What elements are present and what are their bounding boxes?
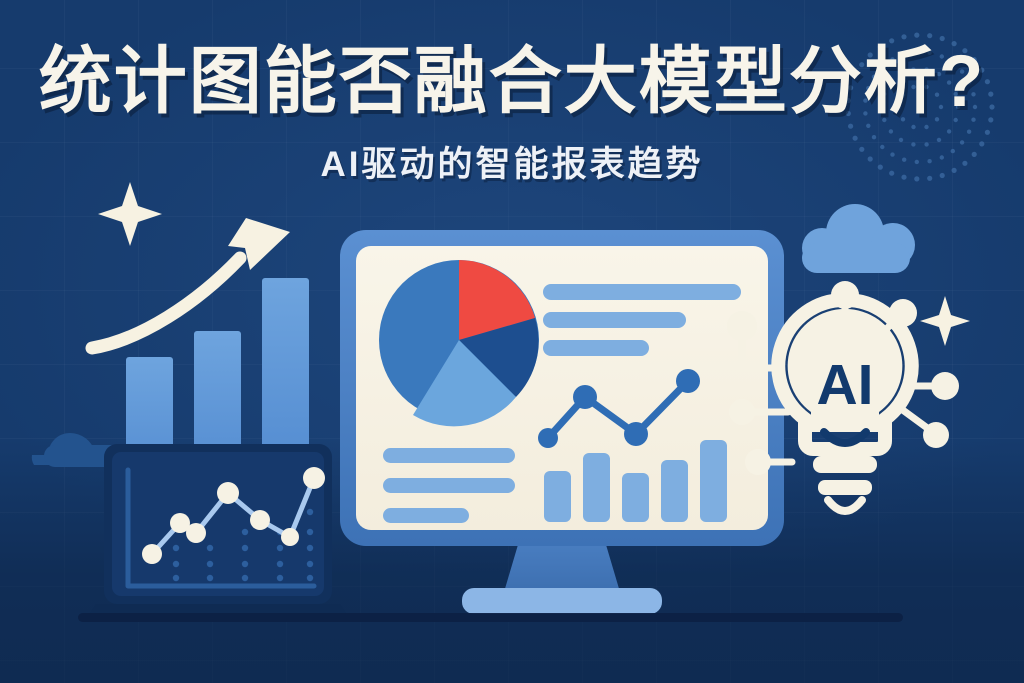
- ground-shadow: [78, 613, 903, 622]
- bulb-base-2: [818, 480, 872, 495]
- text-row: [383, 448, 515, 463]
- sparkle-left-icon: [98, 182, 162, 246]
- text-row: [383, 478, 515, 493]
- text-row: [543, 340, 649, 356]
- bar: [622, 473, 649, 522]
- bulb-base-1: [813, 456, 877, 473]
- infographic-canvas: 统计图能否融合大模型分析? AI驱动的智能报表趋势: [0, 0, 1024, 683]
- rising-arrow-icon: [92, 218, 290, 348]
- laptop-device: [88, 444, 348, 616]
- bar: [700, 440, 727, 522]
- page-title: 统计图能否融合大模型分析?: [0, 44, 1024, 120]
- text-row: [383, 508, 469, 523]
- ai-label: AI: [817, 353, 874, 417]
- page-subtitle: AI驱动的智能报表趋势: [0, 136, 1024, 187]
- cloud-right-icon: [802, 204, 915, 273]
- text-row: [543, 284, 741, 300]
- title-block: 统计图能否融合大模型分析? AI驱动的智能报表趋势: [0, 44, 1024, 187]
- text-row: [543, 312, 686, 328]
- sparkle-right-icon: [920, 296, 970, 346]
- bar: [661, 460, 688, 522]
- smile-icon: [824, 432, 866, 443]
- bulb-base-3: [828, 500, 862, 511]
- bar: [544, 471, 571, 522]
- monitor-device: [340, 230, 784, 614]
- monitor-base: [462, 588, 662, 614]
- bar: [583, 453, 610, 522]
- monitor-stand: [504, 538, 620, 592]
